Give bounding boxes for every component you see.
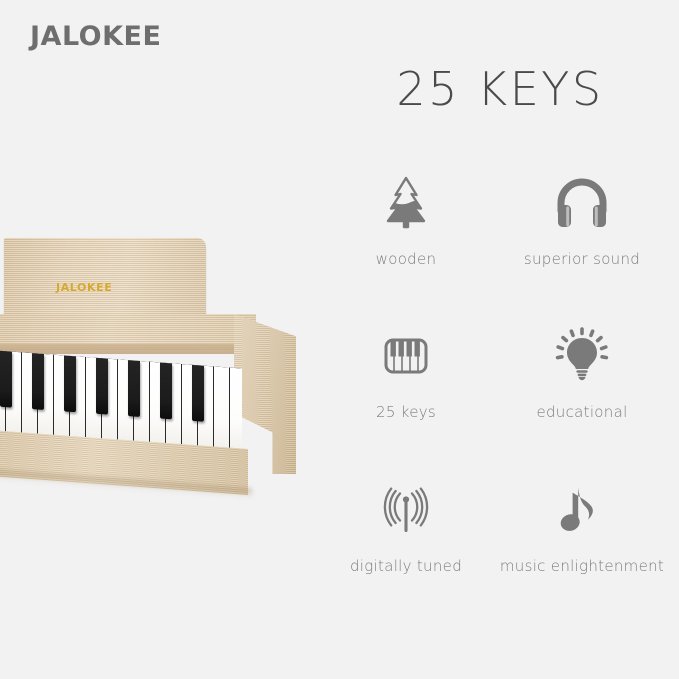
black-key [0,351,12,408]
black-key [96,358,108,415]
black-key [128,360,140,417]
feature-label-wooden: wooden [376,250,437,268]
black-key [160,362,172,419]
feature-label-25-keys: 25 keys [376,403,436,421]
signal-waves-icon [370,473,442,545]
black-key [192,365,204,422]
brand-logo: JALOKEE [30,23,161,50]
black-key [64,355,76,412]
piano-music-stand-panel: JALOKEE [4,238,206,320]
feature-label-educational: educational [536,403,627,421]
feature-item-digitally-tuned: digitally tuned [318,465,494,618]
feature-item-superior-sound: superior sound [494,158,670,311]
feature-label-music-enlightenment: music enlightenment [500,557,664,575]
headline-25-keys: 25 KEYS [330,64,670,115]
piano-keys-icon [370,319,442,391]
feature-item-educational: educational [494,311,670,464]
headphones-icon [546,166,618,238]
piano-stand-logo: JALOKEE [56,281,112,294]
feature-grid: wooden superior sound [318,158,670,618]
feature-item-music-enlightenment: music enlightenment [494,465,670,618]
tree-icon [370,166,442,238]
piano-deck-lip [0,344,254,354]
product-photo-toy-piano: JALOKEE [0,230,316,500]
feature-item-25-keys: 25 keys [318,311,494,464]
feature-label-digitally-tuned: digitally tuned [350,557,462,575]
lightbulb-icon [546,319,618,391]
black-key [32,353,44,410]
feature-item-wooden: wooden [318,158,494,311]
music-note-icon [546,473,618,545]
feature-label-superior-sound: superior sound [524,250,640,268]
marketing-image-canvas: JALOKEE 25 KEYS JALOKEE [0,0,679,679]
